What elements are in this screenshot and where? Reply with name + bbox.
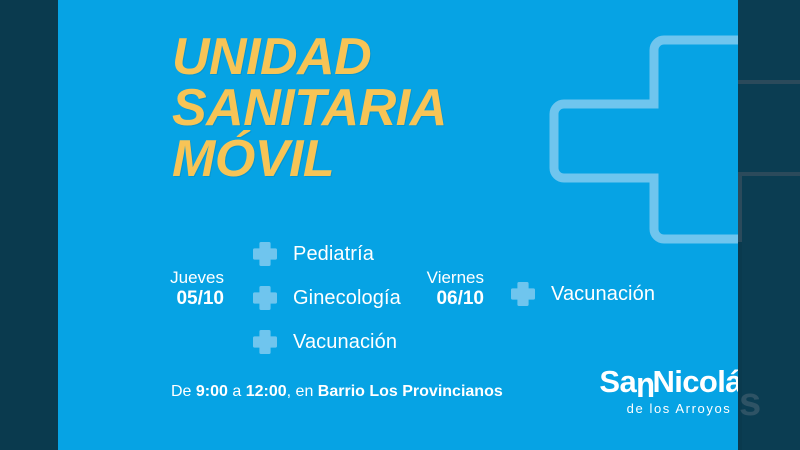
logo-name: SanNicolás <box>591 366 738 397</box>
day-name-thursday: Jueves <box>102 268 224 288</box>
backdrop-ghost-text: s <box>739 382 762 422</box>
note-time-start: 9:00 <box>196 383 228 400</box>
medical-cross-icon <box>510 281 536 307</box>
service-label: Vacunación <box>293 331 397 354</box>
note-time-end: 12:00 <box>246 383 287 400</box>
medical-cross-icon <box>252 285 278 311</box>
schedule-section: Jueves 05/10 Pediatría <box>58 228 738 353</box>
headline-line-3: MÓVIL <box>172 134 447 185</box>
logo-tagline: de los Arroyos <box>591 402 738 415</box>
day-date-friday: 06/10 <box>362 288 484 310</box>
service-label: Vacunación <box>551 283 655 306</box>
backdrop-edge-vertical <box>738 176 742 242</box>
medical-cross-outline-icon <box>544 32 738 247</box>
day-date-thursday: 05/10 <box>102 288 224 310</box>
note-place: Barrio Los Provincianos <box>318 383 503 400</box>
headline-line-1: UNIDAD <box>172 32 447 83</box>
note-prefix: De <box>171 383 196 400</box>
medical-cross-icon <box>252 241 278 267</box>
backdrop-panel-middle <box>738 84 800 172</box>
flyer-body: UNIDAD SANITARIA MÓVIL Jueves 05/10 Pedi… <box>58 0 738 450</box>
note-connector: , en <box>287 383 318 400</box>
service-item: Vacunación <box>510 272 655 316</box>
logo-san-nicolas: SanNicolás de los Arroyos <box>591 366 738 415</box>
note-middle: a <box>228 383 246 400</box>
poster-canvas: s UNIDAD SANITARIA MÓVIL Jueves 05/10 <box>0 0 800 450</box>
logo-name-part2: Nicolás <box>652 364 738 399</box>
service-list-friday: Vacunación <box>510 272 655 316</box>
page-title: UNIDAD SANITARIA MÓVIL <box>172 32 447 185</box>
medical-cross-icon <box>252 329 278 355</box>
day-block-thursday: Jueves 05/10 <box>102 268 224 309</box>
day-name-friday: Viernes <box>362 268 484 288</box>
logo-name-ligature: n <box>636 366 654 403</box>
schedule-note: De 9:00 a 12:00, en Barrio Los Provincia… <box>171 382 503 401</box>
day-block-friday: Viernes 06/10 <box>362 268 484 309</box>
logo-name-part1: Sa <box>599 364 636 399</box>
headline-line-2: SANITARIA <box>172 83 447 134</box>
backdrop-panel-top <box>738 0 800 80</box>
service-item: Vacunación <box>252 320 401 364</box>
service-label: Pediatría <box>293 243 374 266</box>
